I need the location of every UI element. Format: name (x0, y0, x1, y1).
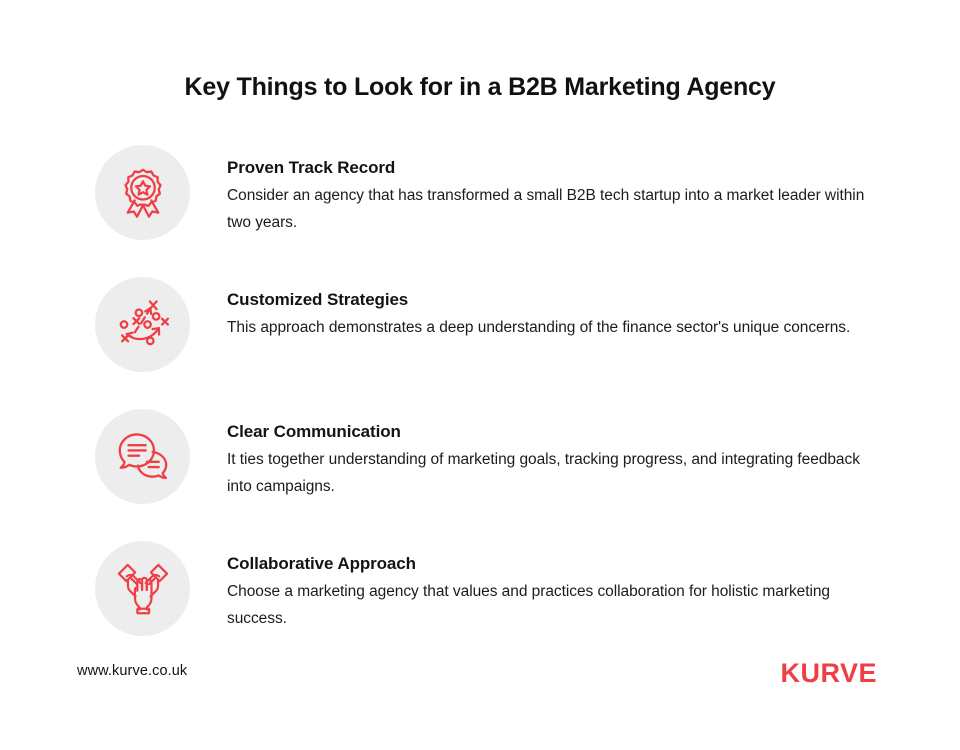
strategy-playbook-icon (114, 296, 172, 354)
item-heading: Customized Strategies (227, 289, 867, 312)
joined-hands-icon (115, 561, 171, 617)
list-item: Clear Communication It ties together und… (95, 409, 885, 541)
item-heading: Clear Communication (227, 421, 867, 444)
list-item: Customized Strategies This approach demo… (95, 277, 885, 409)
item-text-block: Proven Track Record Consider an agency t… (227, 145, 867, 236)
item-text-block: Collaborative Approach Choose a marketin… (227, 541, 867, 632)
item-heading: Collaborative Approach (227, 553, 867, 576)
list-item: Proven Track Record Consider an agency t… (95, 145, 885, 277)
item-heading: Proven Track Record (227, 157, 867, 180)
item-description: This approach demonstrates a deep unders… (227, 315, 867, 342)
infographic-slide: Key Things to Look for in a B2B Marketin… (0, 0, 960, 750)
icon-circle (95, 541, 190, 636)
item-text-block: Clear Communication It ties together und… (227, 409, 867, 500)
list-item: Collaborative Approach Choose a marketin… (95, 541, 885, 673)
items-list: Proven Track Record Consider an agency t… (95, 145, 885, 673)
item-description: Consider an agency that has transformed … (227, 183, 867, 236)
speech-bubbles-icon (115, 429, 171, 485)
icon-circle (95, 409, 190, 504)
kurve-logo: KURVE (780, 658, 877, 689)
award-badge-ribbon-icon (115, 165, 171, 221)
item-text-block: Customized Strategies This approach demo… (227, 277, 867, 342)
icon-circle (95, 145, 190, 240)
item-description: It ties together understanding of market… (227, 447, 867, 500)
icon-circle (95, 277, 190, 372)
footer-website-url[interactable]: www.kurve.co.uk (77, 663, 187, 679)
page-title: Key Things to Look for in a B2B Marketin… (0, 72, 960, 102)
item-description: Choose a marketing agency that values an… (227, 579, 867, 632)
